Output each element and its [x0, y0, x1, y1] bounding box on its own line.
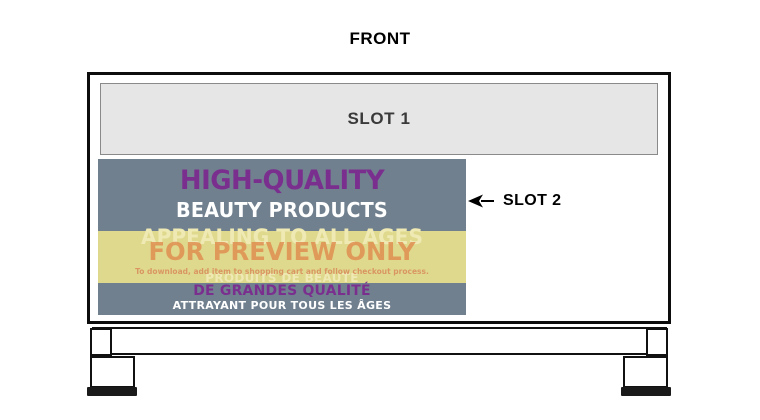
preview-watermark-note: To download, add item to shopping cart a…	[98, 267, 466, 276]
slot-2-callout: SLOT 2	[468, 192, 561, 210]
stand-leg-left	[90, 328, 140, 398]
leg-post	[646, 328, 668, 356]
slot-1-label: SLOT 1	[347, 109, 410, 129]
display-cabinet-frame: SLOT 1 HIGH-QUALITY BEAUTY PRODUCTS APPE…	[87, 72, 671, 324]
leg-pad	[621, 387, 671, 396]
leg-post	[90, 328, 112, 356]
poster-subhead-en: BEAUTY PRODUCTS	[105, 198, 458, 222]
stand-crossbeam	[92, 327, 667, 355]
arrow-left-icon	[468, 193, 494, 209]
slot-1-panel[interactable]: SLOT 1	[100, 83, 658, 155]
slot-2-callout-label: SLOT 2	[503, 192, 561, 210]
page-title: FRONT	[0, 29, 760, 49]
poster-headline-fr: DE GRANDES QUALITÉ	[98, 283, 466, 299]
leg-pad	[87, 387, 137, 396]
preview-watermark-main: FOR PREVIEW ONLY	[104, 237, 461, 266]
poster-tagline-fr: ATTRAYANT POUR TOUS LES ÂGES	[98, 299, 466, 312]
stand-leg-right	[618, 328, 668, 398]
slot-2-poster[interactable]: HIGH-QUALITY BEAUTY PRODUCTS APPEALING T…	[98, 159, 466, 315]
leg-foot	[623, 356, 668, 388]
poster-headline-en: HIGH-QUALITY	[105, 165, 458, 196]
leg-foot	[90, 356, 135, 388]
